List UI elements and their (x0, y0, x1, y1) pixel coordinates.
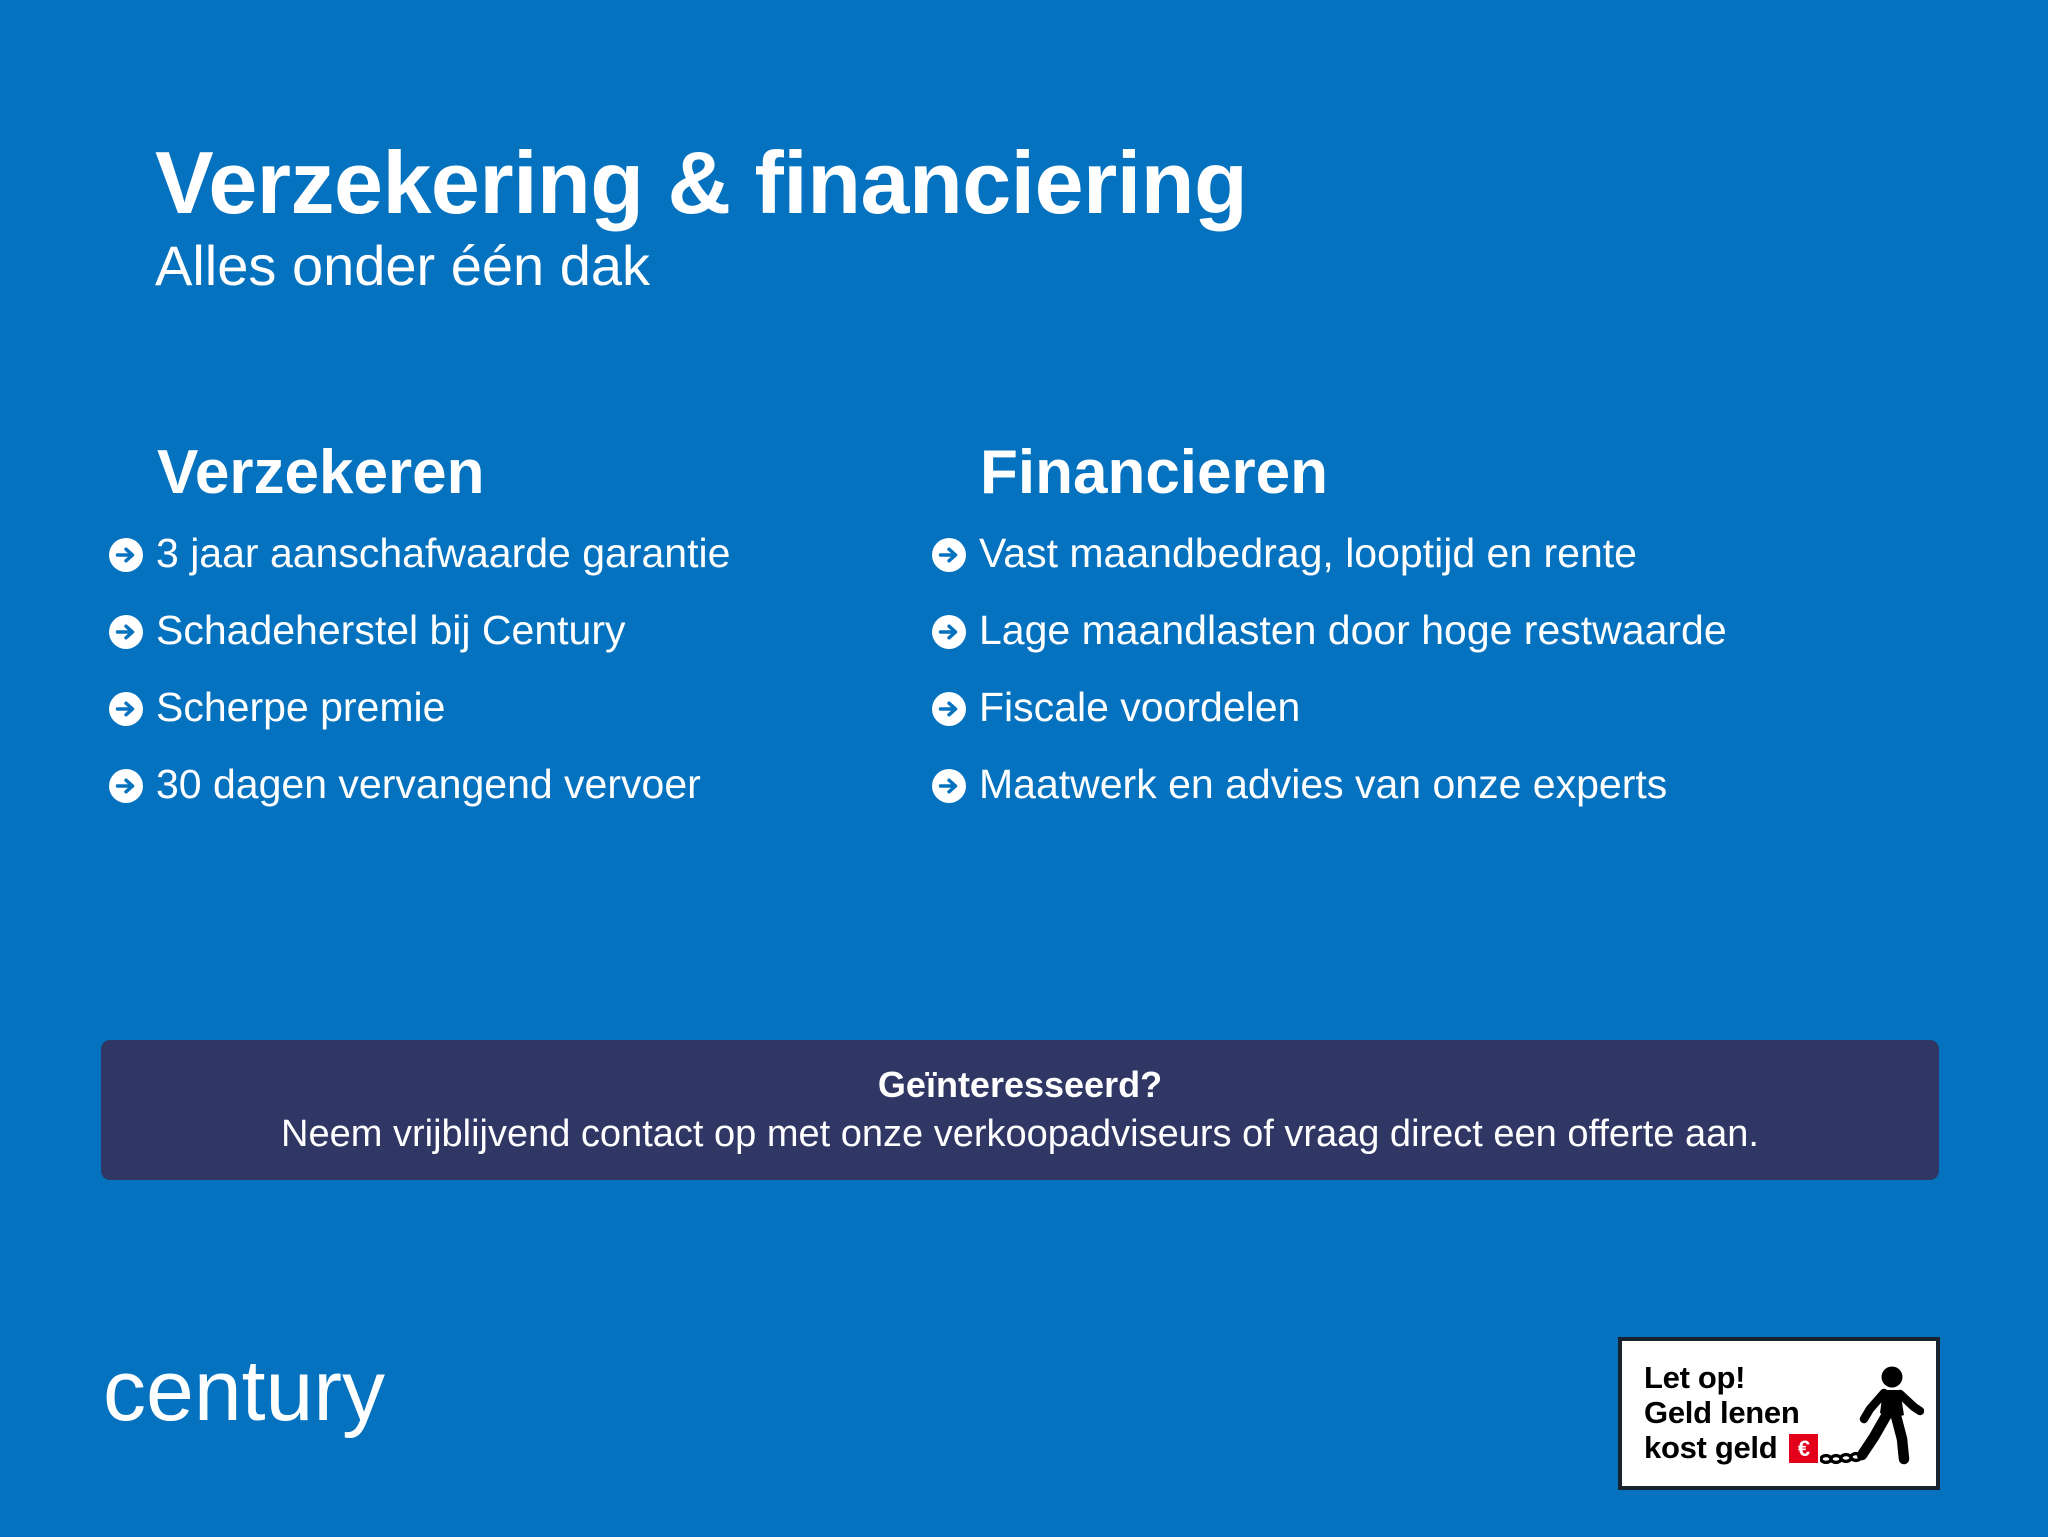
header: Verzekering & financiering Alles onder é… (155, 138, 1855, 298)
list-item-label: Fiscale voordelen (979, 685, 1300, 730)
list-item-label: Lage maandlasten door hoge restwaarde (979, 608, 1727, 653)
column-financieren: Financieren Vast maandbedrag, looptijd e… (920, 440, 2048, 839)
page-title: Verzekering & financiering (155, 138, 1855, 228)
list-item: Fiscale voordelen (932, 685, 2048, 730)
list-item: Vast maandbedrag, looptijd en rente (932, 531, 2048, 576)
benefits-columns: Verzekeren 3 jaar aanschafwaarde garanti… (0, 440, 2048, 839)
arrow-right-circle-icon (932, 538, 966, 572)
arrow-right-circle-icon (932, 769, 966, 803)
list-item-label: Schadeherstel bij Century (156, 608, 625, 653)
arrow-right-circle-icon (109, 538, 143, 572)
arrow-right-circle-icon (932, 692, 966, 726)
walking-person-with-ball-and-chain-icon (1820, 1363, 1924, 1475)
list-item-label: Scherpe premie (156, 685, 445, 730)
arrow-right-circle-icon (932, 615, 966, 649)
list-item-label: 3 jaar aanschafwaarde garantie (156, 531, 730, 576)
credit-warning-line-3: kost geld (1644, 1431, 1777, 1466)
bullet-list-verzekeren: 3 jaar aanschafwaarde garantie Schadeher… (157, 531, 920, 807)
credit-warning-box: Let op! Geld lenen kost geld € (1618, 1337, 1940, 1490)
list-item: 3 jaar aanschafwaarde garantie (109, 531, 920, 576)
arrow-right-circle-icon (109, 769, 143, 803)
list-item: Schadeherstel bij Century (109, 608, 920, 653)
page-subtitle: Alles onder één dak (155, 234, 1855, 298)
list-item-label: 30 dagen vervangend vervoer (156, 762, 701, 807)
column-verzekeren: Verzekeren 3 jaar aanschafwaarde garanti… (0, 440, 920, 839)
cta-banner: Geïnteresseerd? Neem vrijblijvend contac… (101, 1040, 1939, 1180)
list-item-label: Vast maandbedrag, looptijd en rente (979, 531, 1637, 576)
arrow-right-circle-icon (109, 615, 143, 649)
euro-block-icon: € (1789, 1434, 1818, 1463)
list-item: Lage maandlasten door hoge restwaarde (932, 608, 2048, 653)
credit-warning-line-2: Geld lenen (1644, 1396, 1818, 1431)
cta-text: Neem vrijblijvend contact op met onze ve… (281, 1112, 1759, 1158)
column-heading-financieren: Financieren (980, 440, 2048, 505)
credit-warning-line-1: Let op! (1644, 1361, 1818, 1396)
credit-warning-text: Let op! Geld lenen kost geld € (1644, 1361, 1818, 1465)
cta-title: Geïnteresseerd? (878, 1063, 1162, 1106)
slide-root: Verzekering & financiering Alles onder é… (0, 0, 2048, 1537)
arrow-right-circle-icon (109, 692, 143, 726)
list-item: 30 dagen vervangend vervoer (109, 762, 920, 807)
list-item: Scherpe premie (109, 685, 920, 730)
column-heading-verzekeren: Verzekeren (157, 440, 920, 505)
list-item: Maatwerk en advies van onze experts (932, 762, 2048, 807)
century-logo: century (103, 1348, 385, 1434)
list-item-label: Maatwerk en advies van onze experts (979, 762, 1667, 807)
credit-warning-line-3-wrap: kost geld € (1644, 1431, 1818, 1466)
bullet-list-financieren: Vast maandbedrag, looptijd en rente Lage… (980, 531, 2048, 807)
